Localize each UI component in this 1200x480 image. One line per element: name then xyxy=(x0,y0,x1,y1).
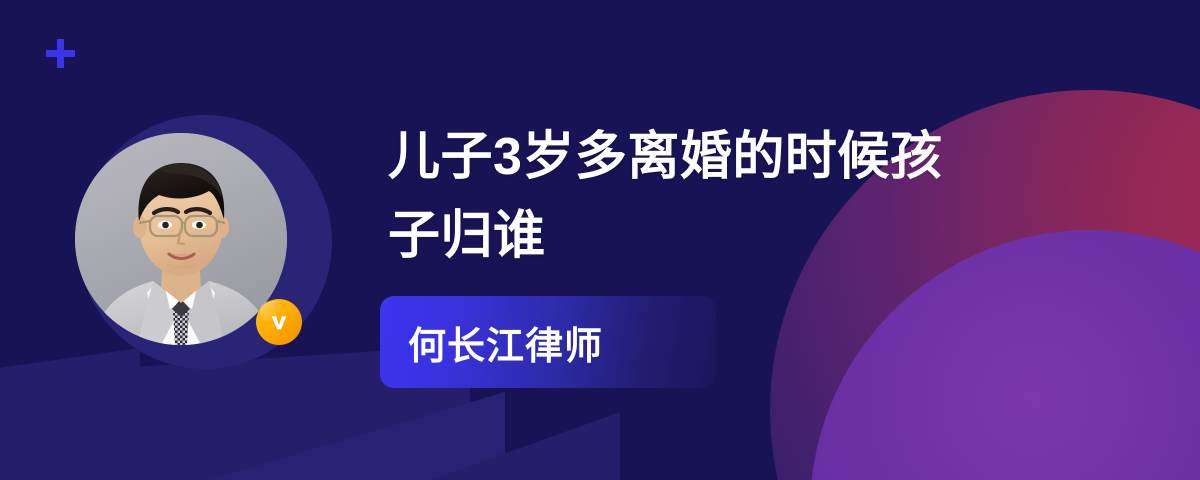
plus-icon xyxy=(46,39,75,68)
verified-badge xyxy=(256,299,302,345)
author-name: 何长江律师 xyxy=(380,315,603,370)
avatar xyxy=(78,115,332,369)
avatar-photo xyxy=(75,133,287,345)
page-title: 儿子3岁多离婚的时候孩 子归谁 xyxy=(388,118,1068,276)
headline-block: 儿子3岁多离婚的时候孩 子归谁 xyxy=(388,118,1068,276)
lawyer-article-banner: 儿子3岁多离婚的时候孩 子归谁 何长江律师 xyxy=(0,0,1200,480)
author-pill[interactable]: 何长江律师 xyxy=(380,296,716,388)
